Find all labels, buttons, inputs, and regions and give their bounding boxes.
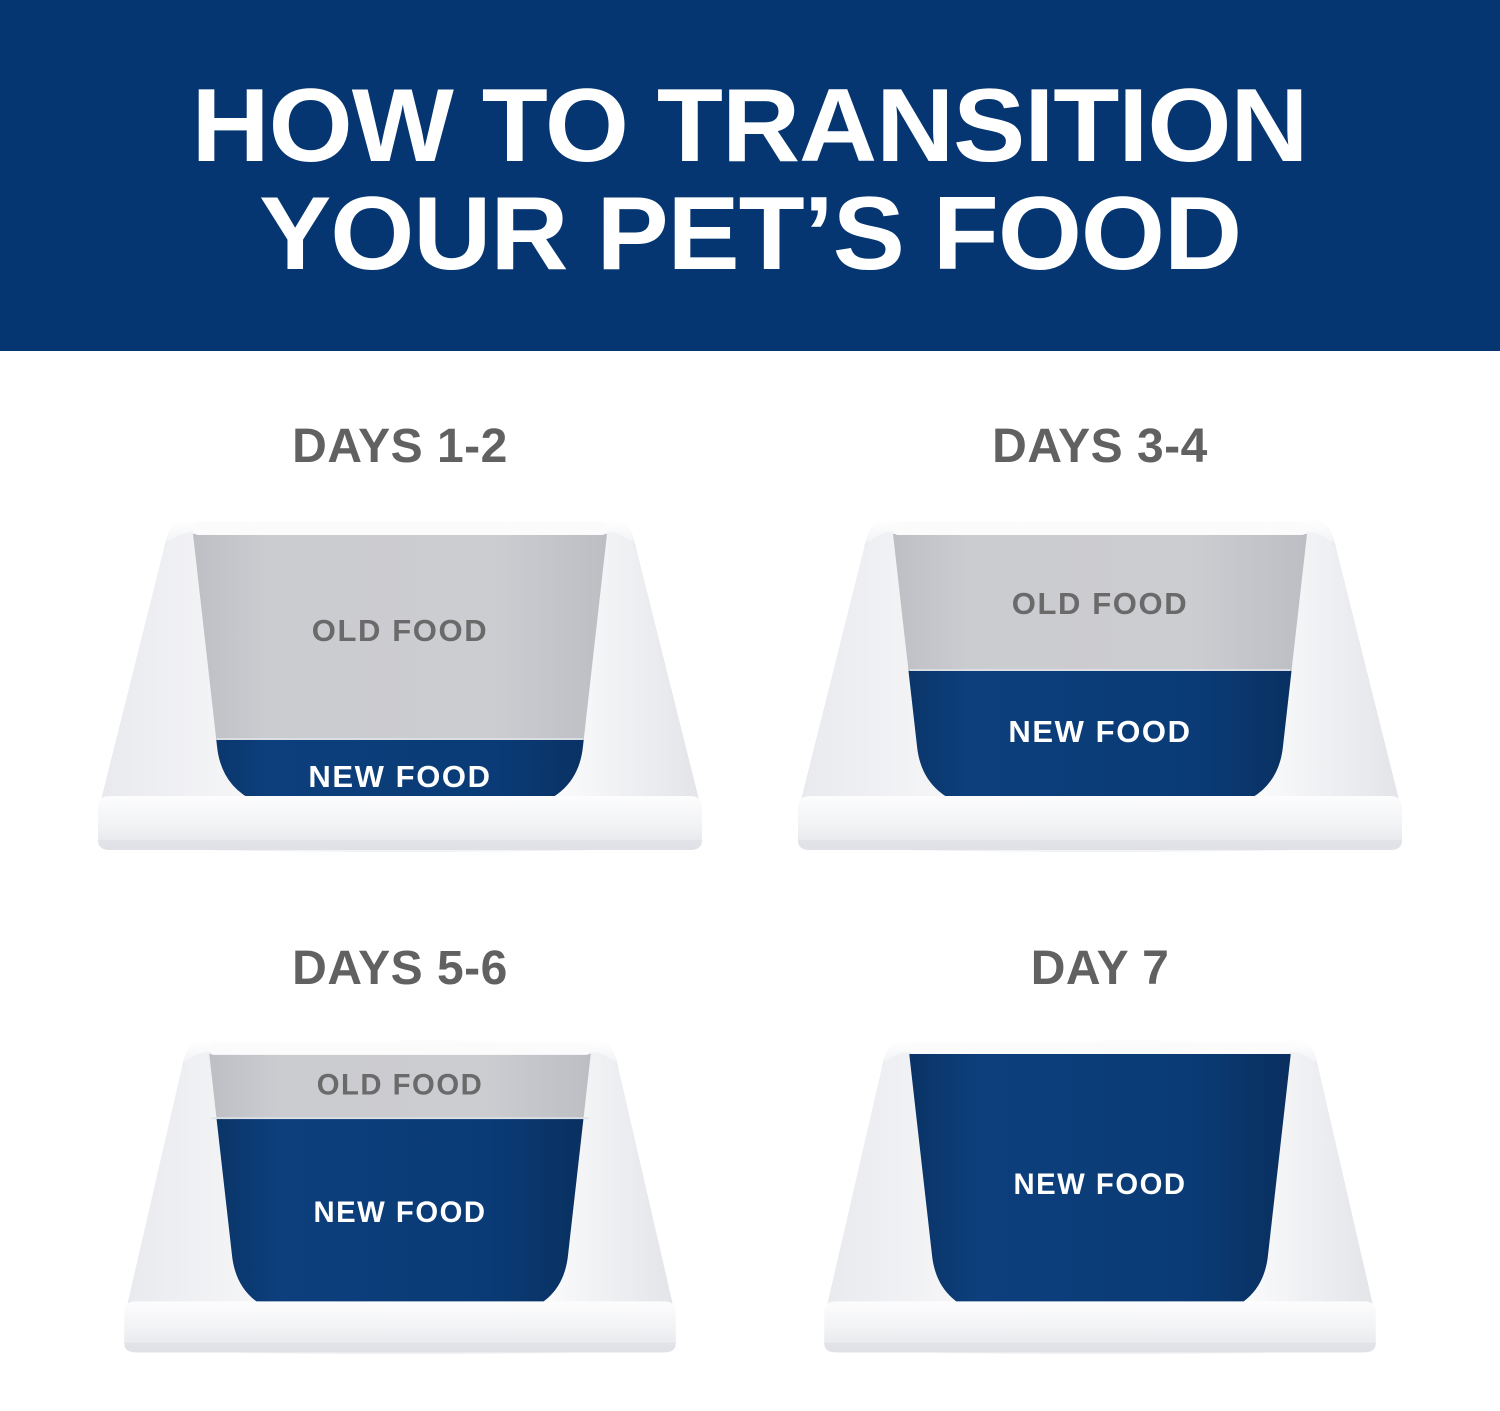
bowl-graphic: NEW FOOD <box>770 1018 1430 1358</box>
new-food-label: NEW FOOD <box>313 1197 486 1229</box>
bowl-rim-inner <box>893 522 1307 535</box>
bowl-base-shadow <box>824 1343 1376 1352</box>
pet-bowl-days-1-2: OLD FOOD NEW FOOD <box>70 496 730 856</box>
bowl-rim-inner <box>909 1043 1291 1054</box>
bowl-graphic: OLD FOOD NEW FOOD <box>70 1018 730 1358</box>
pet-bowl-day-7: NEW FOOD <box>770 1018 1430 1358</box>
page-title-line-1: HOW TO TRANSITION <box>192 76 1308 178</box>
food-divider <box>910 669 1290 671</box>
pet-bowl-days-5-6: OLD FOOD NEW FOOD <box>70 1018 730 1358</box>
step-card-days-1-2: DAYS 1-2 <box>50 419 750 889</box>
bowl-graphic: OLD FOOD NEW FOOD <box>770 496 1430 856</box>
old-food-label: OLD FOOD <box>1012 586 1188 621</box>
food-divider <box>211 1117 589 1119</box>
bowl-base-shadow <box>124 1343 676 1352</box>
bowl-rim-inner <box>193 522 607 535</box>
old-food-label: OLD FOOD <box>317 1070 484 1102</box>
page-header: HOW TO TRANSITION YOUR PET’S FOOD <box>0 0 1500 351</box>
step-card-day-7: DAY 7 <box>750 941 1450 1411</box>
bowl-base-shadow <box>798 840 1402 850</box>
bowl-graphic: OLD FOOD NEW FOOD <box>70 496 730 856</box>
step-card-days-3-4: DAYS 3-4 <box>750 419 1450 889</box>
new-food-label: NEW FOOD <box>1013 1169 1186 1201</box>
transition-steps-grid: DAYS 1-2 <box>0 351 1500 1401</box>
page-title-line-2: YOUR PET’S FOOD <box>259 184 1241 286</box>
step-day-label: DAYS 3-4 <box>992 419 1208 474</box>
pet-bowl-days-3-4: OLD FOOD NEW FOOD <box>770 496 1430 856</box>
bowl-base-shadow <box>98 840 702 850</box>
food-divider <box>217 738 583 740</box>
bowl-rim-inner <box>209 1043 591 1055</box>
step-day-label: DAY 7 <box>1031 941 1170 996</box>
new-food-label: NEW FOOD <box>308 759 491 794</box>
step-day-label: DAYS 5-6 <box>292 941 508 996</box>
new-food-label: NEW FOOD <box>1008 714 1191 749</box>
step-card-days-5-6: DAYS 5-6 <box>50 941 750 1411</box>
old-food-label: OLD FOOD <box>312 613 488 648</box>
step-day-label: DAYS 1-2 <box>292 419 508 474</box>
